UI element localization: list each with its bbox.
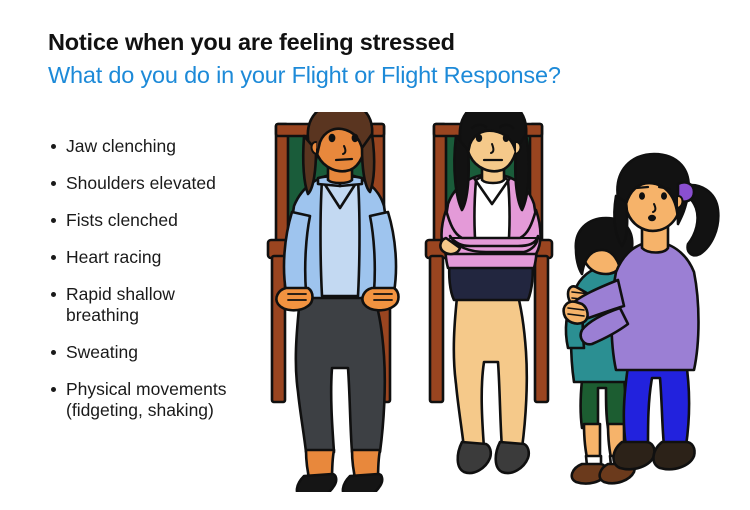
list-item-label-line2: breathing	[66, 305, 275, 326]
bullet-icon	[51, 350, 56, 355]
list-item: Rapid shallow breathing	[50, 284, 275, 326]
bullet-icon	[51, 255, 56, 260]
list-item: Jaw clenching	[50, 136, 275, 157]
list-item-label-line2: (fidgeting, shaking)	[66, 400, 275, 421]
poster-canvas: Notice when you are feeling stressed Wha…	[0, 0, 750, 510]
list-item-label: Heart racing	[66, 247, 161, 267]
list-item-label: Rapid shallow	[66, 284, 175, 304]
list-item-label: Physical movements	[66, 379, 226, 399]
bullet-icon	[51, 387, 56, 392]
bullet-icon	[51, 292, 56, 297]
page-subtitle: What do you do in your Flight or Flight …	[48, 60, 708, 90]
figure-seated-woman-middle	[440, 112, 540, 473]
bullet-icon	[51, 144, 56, 149]
list-item: Sweating	[50, 342, 275, 363]
stress-symptom-list: Jaw clenching Shoulders elevated Fists c…	[50, 136, 275, 437]
list-item-label: Jaw clenching	[66, 136, 176, 156]
list-item-label: Sweating	[66, 342, 138, 362]
stress-illustration	[260, 112, 740, 492]
list-item: Physical movements (fidgeting, shaking)	[50, 379, 275, 421]
list-item: Heart racing	[50, 247, 275, 268]
list-item: Shoulders elevated	[50, 173, 275, 194]
illustration-svg	[260, 112, 740, 492]
heading-block: Notice when you are feeling stressed Wha…	[48, 28, 708, 90]
list-item: Fists clenched	[50, 210, 275, 231]
bullet-icon	[51, 218, 56, 223]
list-item-label: Fists clenched	[66, 210, 178, 230]
bullet-icon	[51, 181, 56, 186]
page-title: Notice when you are feeling stressed	[48, 28, 708, 56]
list-item-label: Shoulders elevated	[66, 173, 216, 193]
